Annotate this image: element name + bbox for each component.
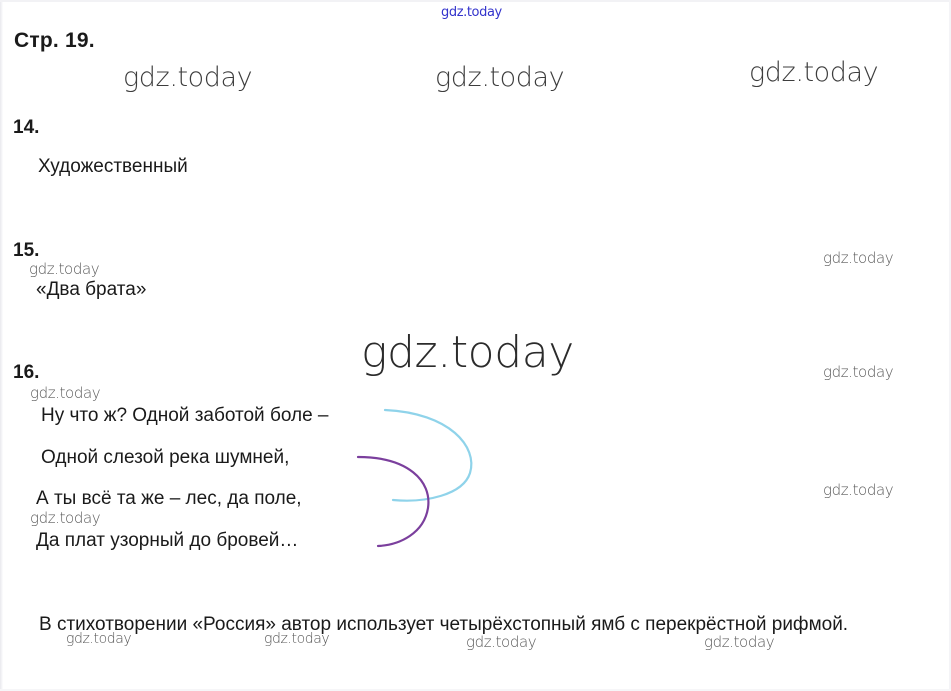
task-14-answer: Художественный <box>38 156 188 178</box>
poem-line: Одной слезой река шумней, <box>41 447 289 469</box>
task-number-15: 15. <box>13 240 39 262</box>
task-15-answer: «Два брата» <box>36 279 146 301</box>
poem-line: А ты всё та же – лес, да поле, <box>36 488 302 510</box>
watermark-gdz-today: gdz.today <box>123 62 252 93</box>
watermark-gdz-today: gdz.today <box>30 384 100 402</box>
watermark-gdz-today: gdz.today <box>29 260 99 278</box>
task-number-16: 16. <box>13 362 39 384</box>
worksheet-page: Стр. 19. 14. Художественный 15. «Два бра… <box>0 0 951 691</box>
watermark-gdz-today: gdz.today <box>361 327 574 378</box>
arc-lines-2-4-icon <box>358 457 428 546</box>
page-title: Стр. 19. <box>14 29 95 53</box>
watermark-gdz-today: gdz.today <box>30 509 100 527</box>
poem-line: Ну что ж? Одной заботой боле – <box>41 405 328 427</box>
rhyme-scheme-arcs <box>330 395 500 565</box>
watermark-gdz-today: gdz.today <box>823 481 893 499</box>
arc-lines-1-3-icon <box>385 410 471 501</box>
watermark-gdz-today: gdz.today <box>823 249 893 267</box>
watermark-gdz-today: gdz.today <box>749 57 878 88</box>
watermark-gdz-today: gdz.today <box>441 5 502 20</box>
poem-line: Да плат узорный до бровей… <box>36 530 298 552</box>
watermark-gdz-today: gdz.today <box>823 363 893 381</box>
page-frame-top <box>0 0 951 2</box>
task-number-14: 14. <box>13 117 39 139</box>
conclusion-paragraph: В стихотворении «Россия» автор используе… <box>17 608 923 641</box>
page-frame-left <box>0 0 3 691</box>
watermark-gdz-today: gdz.today <box>435 62 564 93</box>
